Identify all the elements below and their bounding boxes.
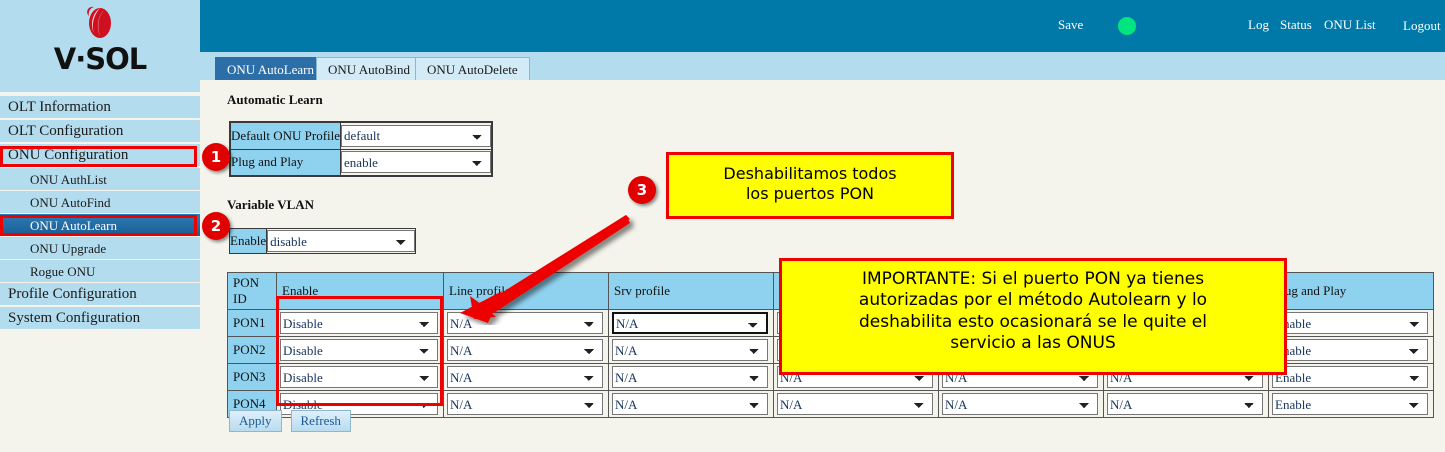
table-row: Default ONU Profile default — [230, 122, 492, 149]
callout2-line4: servicio a las ONUS — [782, 333, 1284, 354]
callout2-line1: IMPORTANTE: Si el puerto PON ya tienes — [782, 269, 1284, 290]
column-header-pon-id: PON ID — [228, 273, 277, 310]
column-header-plug-and-play: Plug and Play — [1269, 273, 1434, 310]
default-onu-profile-label: Default ONU Profile — [230, 122, 341, 149]
form-actions: Apply Refresh — [229, 410, 356, 432]
sidebar-item-system-configuration[interactable]: System Configuration — [0, 307, 200, 330]
sidebar-item-olt-configuration[interactable]: OLT Configuration — [0, 120, 200, 143]
sidebar: V·SOL OLT Information OLT Configuration … — [0, 0, 200, 452]
vsol-droplet-logo-icon — [81, 4, 119, 40]
tab-strip: ONU AutoLearn ONU AutoBind ONU AutoDelet… — [200, 52, 1445, 80]
logout-link[interactable]: Logout — [1403, 18, 1441, 34]
pointer-arrow — [430, 195, 640, 325]
pon2-plug-and-play-select[interactable]: Enable — [1272, 339, 1428, 361]
pon-id-cell: PON1 — [228, 310, 277, 337]
tab-onu-autodelete[interactable]: ONU AutoDelete — [415, 57, 530, 80]
callout-disable-pon-ports: Deshabilitamos todos los puertos PON — [666, 152, 954, 219]
sidebar-item-onu-upgrade[interactable]: ONU Upgrade — [0, 237, 200, 260]
status-indicator-dot — [1118, 17, 1136, 35]
default-onu-profile-select[interactable]: default — [341, 125, 491, 147]
pon3-line-profile-select[interactable]: N/A — [447, 366, 603, 388]
pon1-plug-and-play-select[interactable]: Enable — [1272, 312, 1428, 334]
status-link[interactable]: Status — [1280, 17, 1312, 33]
sidebar-item-onu-authlist[interactable]: ONU AuthList — [0, 168, 200, 191]
automatic-learn-table: Default ONU Profile default Plug and Pla… — [229, 121, 493, 177]
pon4-auth-mode-select[interactable]: N/A — [777, 393, 933, 415]
main-content: ONU AutoLearn ONU AutoBind ONU AutoDelet… — [200, 52, 1445, 452]
tab-onu-autolearn[interactable]: ONU AutoLearn — [215, 57, 326, 80]
badge-1: 1 — [202, 143, 230, 171]
refresh-button[interactable]: Refresh — [291, 410, 351, 432]
pon2-line-profile-select[interactable]: N/A — [447, 339, 603, 361]
callout1-line1: Deshabilitamos todos — [669, 164, 951, 184]
brand-logo: V·SOL — [0, 0, 200, 92]
pon3-enable-select[interactable]: Disable — [280, 366, 438, 388]
pon4-plug-and-play-select[interactable]: Enable — [1272, 393, 1428, 415]
table-row: Enable disable — [230, 229, 416, 254]
pon3-srv-profile-select[interactable]: N/A — [612, 366, 768, 388]
sidebar-item-rogue-onu[interactable]: Rogue ONU — [0, 260, 200, 283]
pon1-enable-select[interactable]: Disable — [280, 312, 438, 334]
pon3-plug-and-play-select[interactable]: Enable — [1272, 366, 1428, 388]
onu-list-link[interactable]: ONU List — [1324, 17, 1376, 33]
plug-and-play-label: Plug and Play — [230, 149, 341, 176]
tab-onu-autobind[interactable]: ONU AutoBind — [316, 57, 422, 80]
sidebar-item-profile-configuration[interactable]: Profile Configuration — [0, 283, 200, 306]
sidebar-item-onu-autofind[interactable]: ONU AutoFind — [0, 191, 200, 214]
sidebar-item-onu-autolearn[interactable]: ONU AutoLearn — [0, 214, 200, 237]
automatic-learn-title: Automatic Learn — [227, 92, 323, 108]
apply-button[interactable]: Apply — [229, 410, 282, 432]
pon4-col6-select[interactable]: N/A — [942, 393, 1098, 415]
callout1-line2: los puertos PON — [669, 184, 951, 204]
vlan-enable-label: Enable — [230, 229, 267, 254]
variable-vlan-table: Enable disable — [229, 228, 416, 254]
badge-2: 2 — [202, 212, 230, 240]
pon-id-cell: PON3 — [228, 364, 277, 391]
plug-and-play-select[interactable]: enable — [341, 151, 491, 173]
sidebar-item-olt-information[interactable]: OLT Information — [0, 96, 200, 119]
pon4-srv-profile-select[interactable]: N/A — [612, 393, 768, 415]
brand-name: V·SOL — [0, 42, 200, 76]
pon2-srv-profile-select[interactable]: N/A — [612, 339, 768, 361]
variable-vlan-title: Variable VLAN — [227, 197, 314, 213]
save-link[interactable]: Save — [1058, 17, 1083, 33]
callout-important-warning: IMPORTANTE: Si el puerto PON ya tienes a… — [779, 258, 1287, 375]
pon4-col7-select[interactable]: N/A — [1107, 393, 1263, 415]
sidebar-item-onu-configuration[interactable]: ONU Configuration — [0, 144, 200, 167]
column-header-enable: Enable — [277, 273, 444, 310]
pon-id-cell: PON2 — [228, 337, 277, 364]
pon2-enable-select[interactable]: Disable — [280, 339, 438, 361]
top-header-bar: Save Log Status ONU List Logout — [200, 0, 1445, 52]
callout2-line3: deshabilita esto ocasionará se le quite … — [782, 312, 1284, 333]
vlan-enable-select[interactable]: disable — [267, 230, 415, 252]
table-row: Plug and Play enable — [230, 149, 492, 176]
log-link[interactable]: Log — [1248, 17, 1269, 33]
pon4-line-profile-select[interactable]: N/A — [447, 393, 603, 415]
table-row: PON4 Disable N/A N/A N/A N/A N/A Enable — [228, 391, 1434, 418]
callout2-line2: autorizadas por el método Autolearn y lo — [782, 290, 1284, 311]
